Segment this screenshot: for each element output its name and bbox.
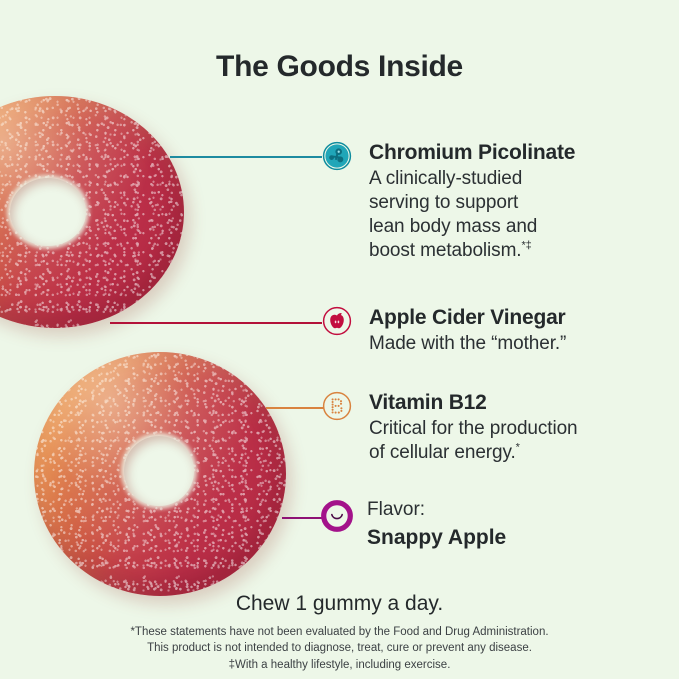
flavor-label: Flavor: (367, 499, 660, 522)
desc-line-4: boost metabolism. (369, 240, 521, 261)
connector-line-chromium (170, 156, 322, 158)
connector-line-acv (110, 322, 322, 324)
connector-line-b12 (266, 407, 324, 409)
ingredient-description: A clinically-studied serving to support … (369, 167, 662, 264)
footnote-marks: *‡ (521, 240, 531, 252)
ingredient-apple-cider-vinegar: Apple Cider Vinegar Made with the “mothe… (322, 306, 662, 356)
ingredient-title: Chromium Picolinate (369, 141, 662, 165)
apple-icon (322, 306, 352, 336)
connector-line-flavor (282, 517, 324, 519)
ingredient-title: Apple Cider Vinegar (369, 306, 662, 330)
footnote-marks: * (516, 442, 520, 454)
ingredient-description: Critical for the production of cellular … (369, 417, 662, 466)
disclaimer-line-3: ‡With a healthy lifestyle, including exe… (0, 657, 679, 673)
gummy-hole (124, 436, 194, 506)
desc-line-2: serving to support (369, 192, 518, 213)
desc-line-3: lean body mass and (369, 216, 537, 237)
desc-line-1: A clinically-studied (369, 168, 522, 189)
product-info-panel: The Goods Inside (0, 0, 679, 679)
gummy-ring-image-top (0, 96, 184, 328)
flavor-value: Snappy Apple (367, 525, 660, 550)
molecule-icon (322, 141, 352, 171)
page-title: The Goods Inside (0, 50, 679, 84)
ingredient-title: Vitamin B12 (369, 391, 662, 415)
smile-face-icon (320, 499, 354, 533)
vitamin-b-dotted-icon (322, 391, 352, 421)
ingredient-chromium-picolinate: Chromium Picolinate A clinically-studied… (322, 141, 662, 264)
disclaimer-line-2: This product is not intended to diagnose… (0, 640, 679, 656)
disclaimer: *These statements have not been evaluate… (0, 624, 679, 673)
gummy-hole (10, 178, 86, 246)
directions-text: Chew 1 gummy a day. (0, 592, 679, 616)
ingredient-description: Made with the “mother.” (369, 332, 662, 356)
flavor-section: Flavor: Snappy Apple (320, 499, 660, 550)
desc-line-1: Critical for the production (369, 418, 578, 439)
disclaimer-line-1: *These statements have not been evaluate… (0, 624, 679, 640)
ingredient-vitamin-b12: Vitamin B12 Critical for the production … (322, 391, 662, 465)
desc-line-2: of cellular energy. (369, 442, 516, 463)
gummy-ring-image-bottom (34, 352, 286, 596)
